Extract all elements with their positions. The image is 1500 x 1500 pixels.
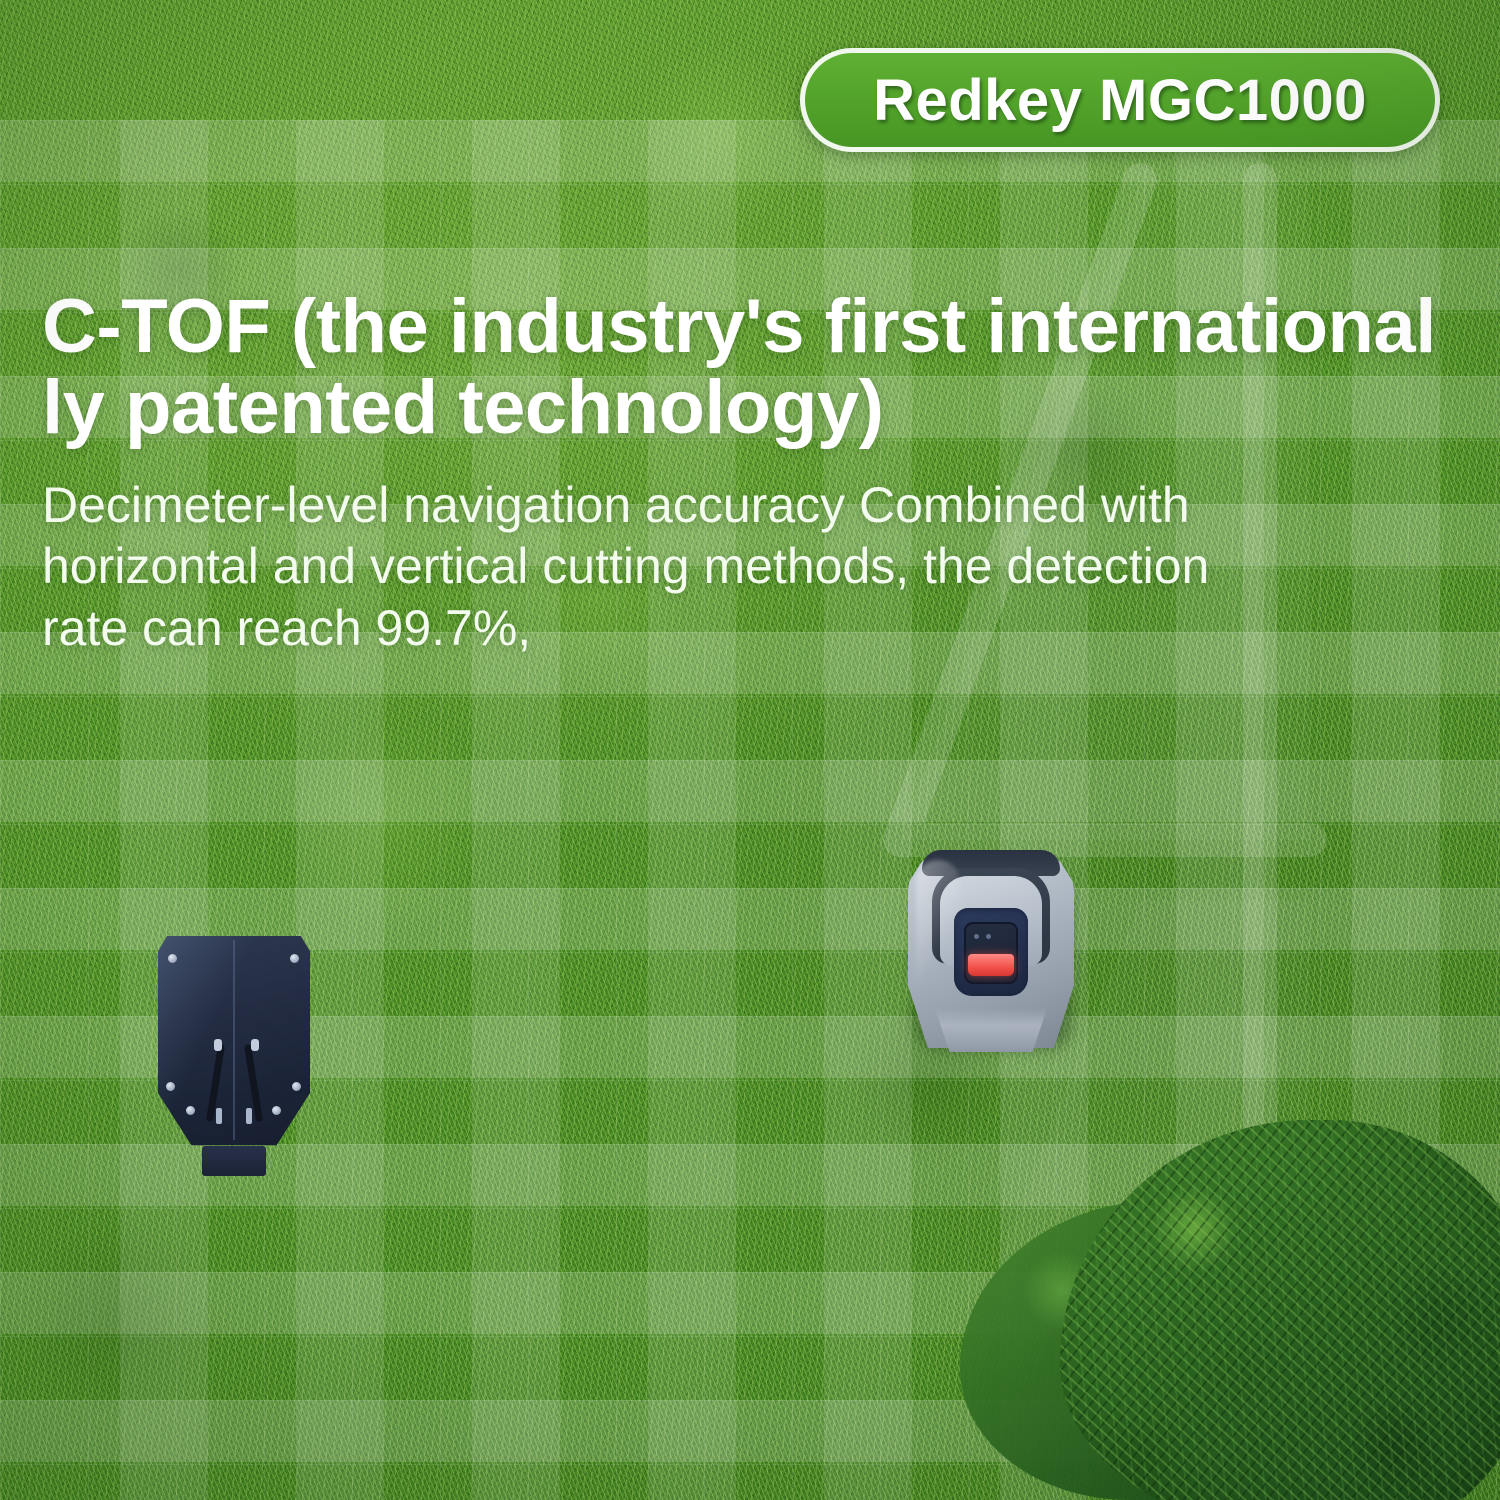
mower-rear-section [930,1008,1052,1052]
dock-screw [272,1106,281,1115]
robot-lawn-mower [908,852,1074,1048]
text-block: C-TOF (the industry's first internationa… [42,286,1472,659]
headline-line-2: ly patented technology) [42,367,1472,448]
product-name-label: Redkey MGC1000 [873,67,1367,134]
dock-alignment-pin [216,1108,222,1124]
mower-sensor-dot [974,934,979,939]
dock-contact-tip-right [251,1039,259,1051]
body-line-2: horizontal and vertical cutting methods,… [42,536,1472,598]
dock-screw [186,1106,195,1115]
dock-screw [166,1082,175,1091]
mower-highlight [916,860,960,1010]
body-line-1: Decimeter-level navigation accuracy Comb… [42,475,1472,537]
dock-screw [168,954,177,963]
mower-status-led [968,954,1014,976]
body-paragraph: Decimeter-level navigation accuracy Comb… [42,475,1472,660]
headline: C-TOF (the industry's first internationa… [42,286,1472,449]
product-name-badge: Redkey MGC1000 [800,48,1440,152]
mower-sensor-dot [986,934,991,939]
dock-screw [290,954,299,963]
body-line-3: rate can reach 99.7%, [42,598,1472,660]
dock-alignment-pin [246,1108,252,1124]
dock-foot [202,1146,266,1176]
promo-image: Redkey MGC1000 C-TOF (the industry's fir… [0,0,1500,1500]
headline-line-1: C-TOF (the industry's first internationa… [42,286,1472,367]
dock-contact-tip-left [214,1039,222,1051]
charging-dock-station [158,936,310,1154]
dock-screw [292,1082,301,1091]
dock-center-seam [233,940,235,1140]
